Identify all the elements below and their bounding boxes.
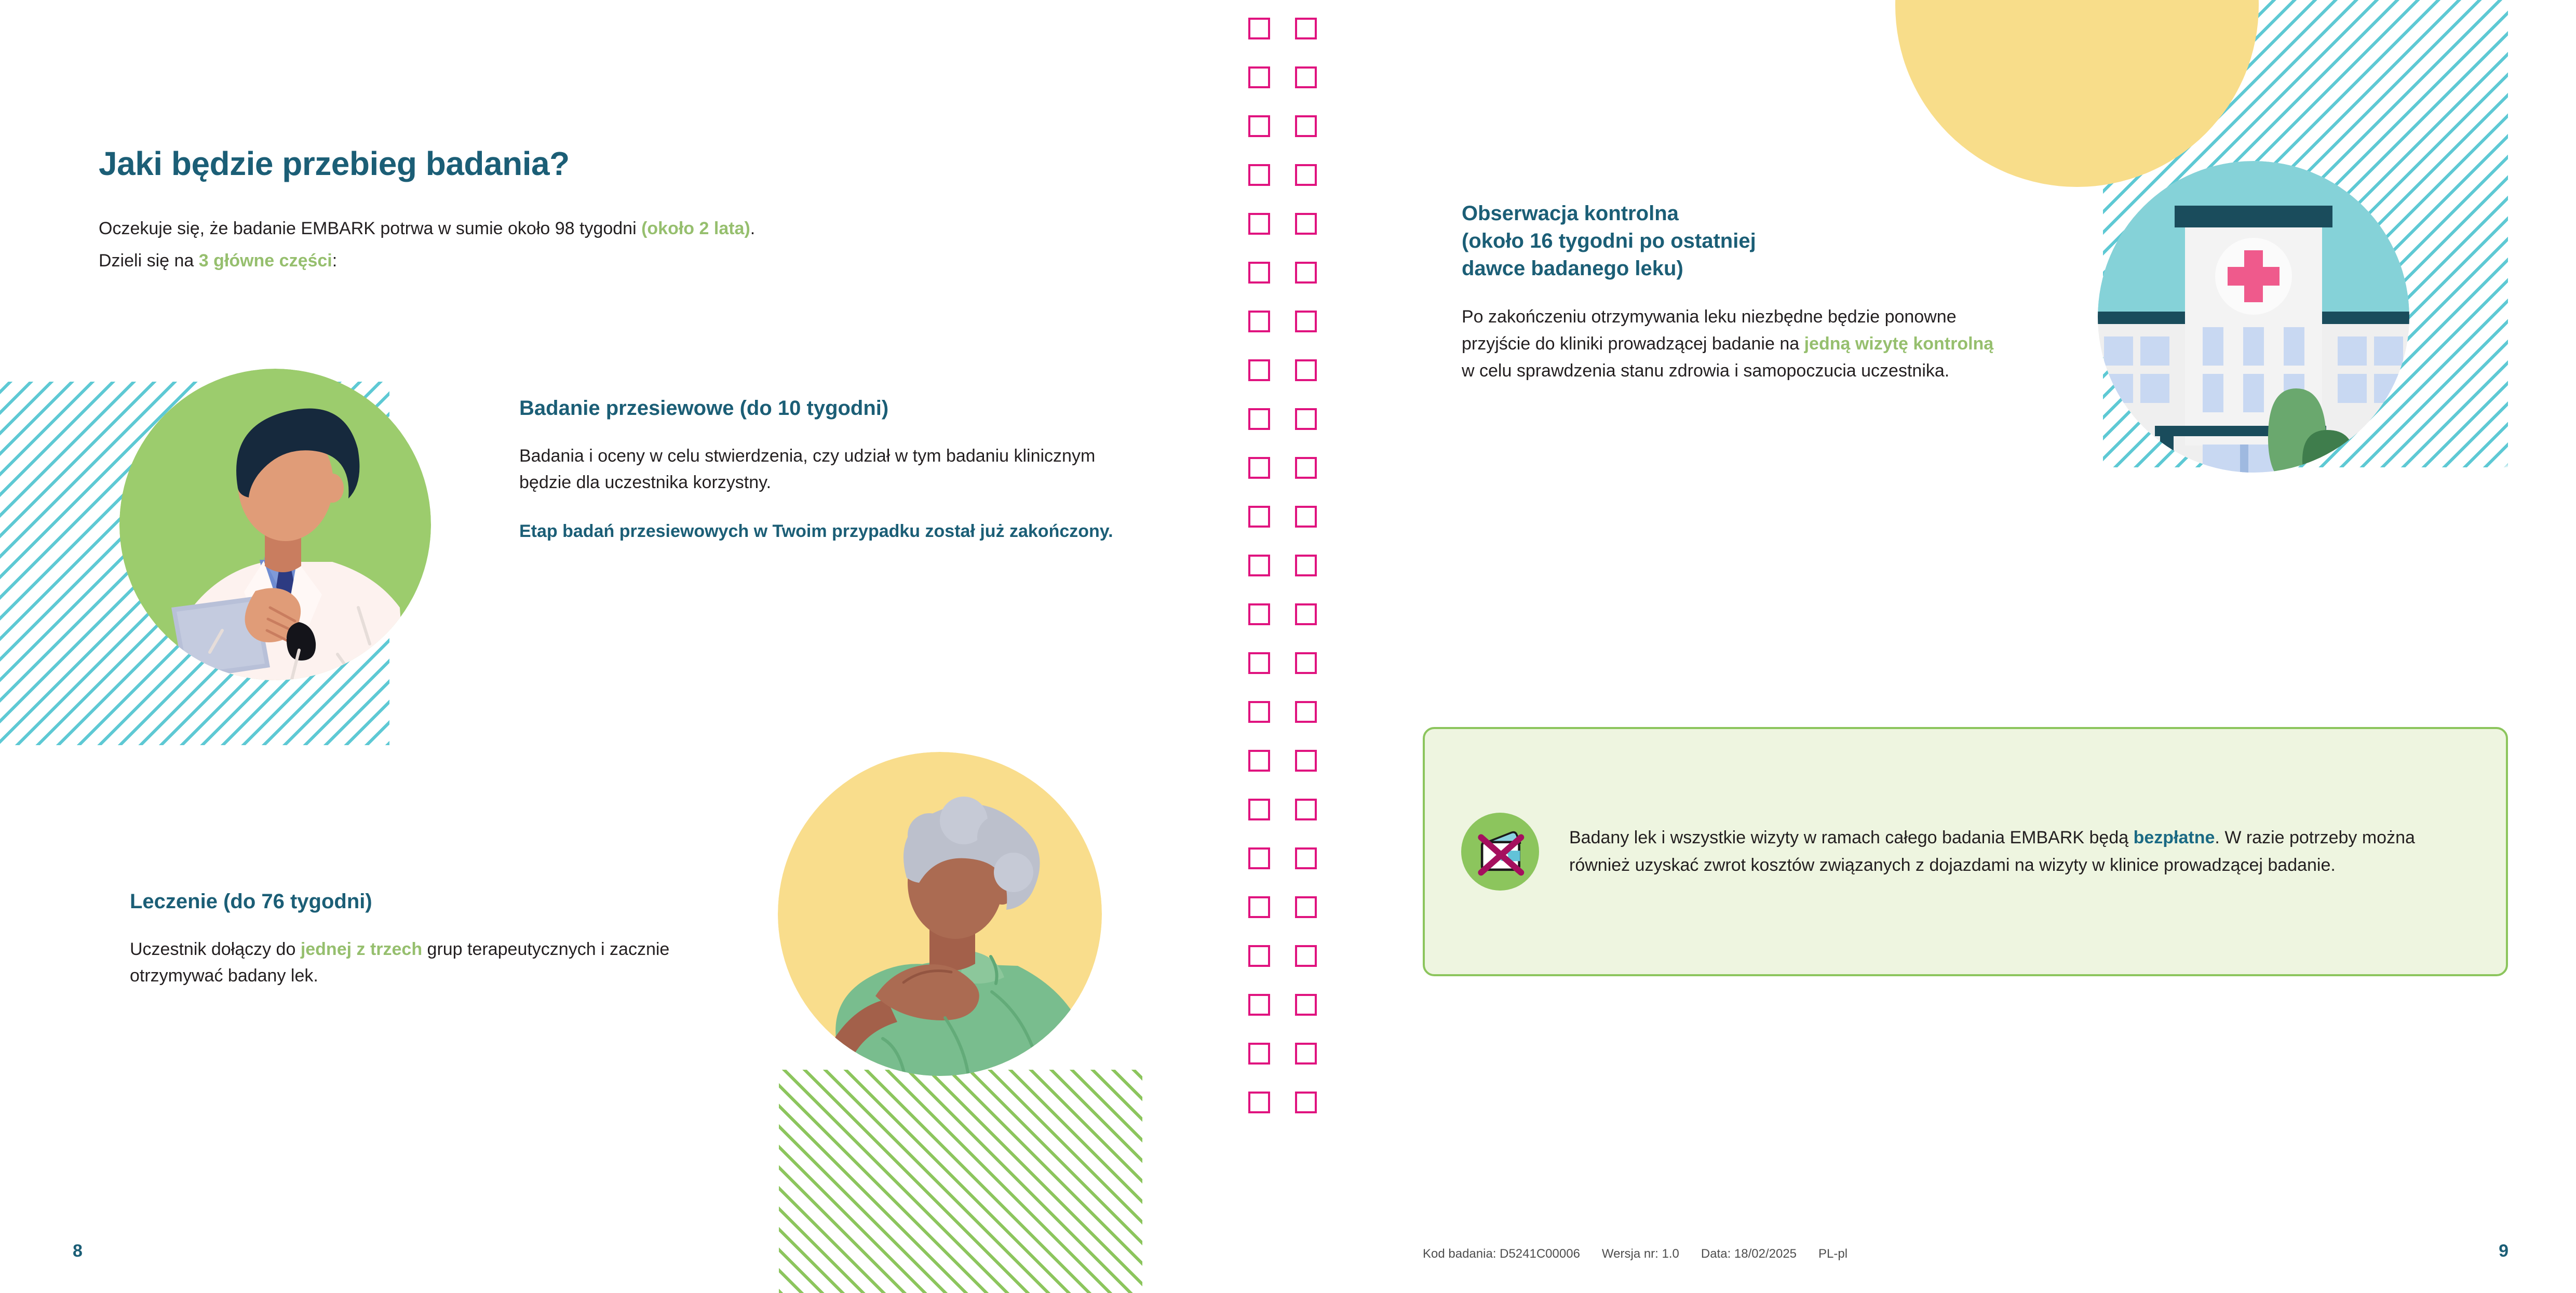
callout-free-highlight: bezpłatne: [2134, 828, 2215, 847]
intro-line-1: Oczekuje się, że badanie EMBARK potrwa w…: [99, 216, 1153, 243]
checkbox-row: [1248, 311, 1352, 332]
checkbox[interactable]: [1295, 603, 1317, 625]
checkbox-row: [1248, 408, 1352, 430]
page-number-left: 8: [73, 1241, 83, 1261]
treatment-heading: Leczenie (do 76 tygodni): [130, 888, 675, 915]
checkbox[interactable]: [1295, 1043, 1317, 1065]
checkbox[interactable]: [1248, 262, 1270, 284]
checkbox-row: [1248, 506, 1352, 528]
footer-metadata: Kod badania: D5241C00006 Wersja nr: 1.0 …: [1423, 1247, 1847, 1261]
checkbox[interactable]: [1248, 408, 1270, 430]
checkbox[interactable]: [1248, 555, 1270, 576]
checkbox-row: [1248, 896, 1352, 918]
free-of-charge-callout: Badany lek i wszystkie wizyty w ramach c…: [1423, 727, 2508, 976]
checkbox[interactable]: [1295, 115, 1317, 137]
no-cost-wallet-icon: [1461, 813, 1539, 891]
green-stripe-pattern-bottom: [779, 1070, 1142, 1293]
checkbox[interactable]: [1248, 603, 1270, 625]
checkbox[interactable]: [1295, 701, 1317, 723]
checkbox-row: [1248, 701, 1352, 723]
checkbox[interactable]: [1248, 359, 1270, 381]
checkbox-row: [1248, 945, 1352, 967]
checkbox-row: [1248, 164, 1352, 186]
intro-duration-highlight: (około 2 lata): [641, 219, 750, 238]
checkbox-row: [1248, 847, 1352, 869]
screening-section: Badanie przesiewowe (do 10 tygodni) Bada…: [519, 395, 1142, 563]
followup-section: Obserwacja kontrolna (około 16 tygodni p…: [1462, 200, 2007, 384]
intro-parts-highlight: 3 główne części: [199, 251, 332, 271]
checkbox[interactable]: [1248, 506, 1270, 528]
checkbox-row: [1248, 603, 1352, 625]
followup-heading-line-1: Obserwacja kontrolna: [1462, 200, 2007, 227]
checkbox-row: [1248, 652, 1352, 674]
treatment-body: Uczestnik dołączy do jednej z trzech gru…: [130, 936, 675, 990]
intro-line-2-text: Dzieli się na: [99, 251, 199, 271]
checkbox[interactable]: [1248, 457, 1270, 479]
followup-body: Po zakończeniu otrzymywania leku niezbęd…: [1462, 304, 2007, 384]
checkbox[interactable]: [1248, 799, 1270, 820]
callout-text: Badany lek i wszystkie wizyty w ramach c…: [1569, 824, 2470, 879]
followup-heading-line-3: dawce badanego leku): [1462, 255, 2007, 282]
checkbox[interactable]: [1248, 1092, 1270, 1113]
checkbox[interactable]: [1295, 408, 1317, 430]
checkbox[interactable]: [1295, 1092, 1317, 1113]
checkbox[interactable]: [1248, 18, 1270, 39]
checkbox-row: [1248, 359, 1352, 381]
checkbox[interactable]: [1248, 994, 1270, 1016]
elderly-person-illustration: [774, 748, 1106, 1080]
followup-heading-line-2: (około 16 tygodni po ostatniej: [1462, 227, 2007, 255]
checkbox[interactable]: [1295, 945, 1317, 967]
checkbox[interactable]: [1248, 701, 1270, 723]
callout-text-a: Badany lek i wszystkie wizyty w ramach c…: [1569, 828, 2134, 847]
checkbox[interactable]: [1248, 750, 1270, 772]
checkbox[interactable]: [1295, 311, 1317, 332]
checkbox[interactable]: [1248, 652, 1270, 674]
treatment-section: Leczenie (do 76 tygodni) Uczestnik dołąc…: [130, 888, 675, 990]
checkbox[interactable]: [1295, 66, 1317, 88]
followup-body-b: w celu sprawdzenia stanu zdrowia i samop…: [1462, 361, 1949, 381]
page-title: Jaki będzie przebieg badania?: [99, 144, 570, 183]
page-number-right: 9: [2499, 1241, 2508, 1261]
checkbox[interactable]: [1295, 994, 1317, 1016]
footer-version: Wersja nr: 1.0: [1602, 1247, 1679, 1261]
footer-date: Data: 18/02/2025: [1701, 1247, 1797, 1261]
checkbox-row: [1248, 750, 1352, 772]
treatment-groups-highlight: jednej z trzech: [301, 939, 422, 959]
checkbox-row: [1248, 555, 1352, 576]
intro-line-1-text: Oczekuje się, że badanie EMBARK potrwa w…: [99, 219, 641, 238]
checkbox[interactable]: [1248, 311, 1270, 332]
checkbox[interactable]: [1295, 457, 1317, 479]
checkbox-row: [1248, 115, 1352, 137]
checkbox[interactable]: [1295, 213, 1317, 235]
intro-line-2-tail: :: [332, 251, 337, 271]
checkbox[interactable]: [1248, 213, 1270, 235]
followup-heading: Obserwacja kontrolna (około 16 tygodni p…: [1462, 200, 2007, 282]
checkbox-decoration-column: [1248, 18, 1352, 1274]
checkbox[interactable]: [1295, 799, 1317, 820]
checkbox[interactable]: [1295, 18, 1317, 39]
checkbox-row: [1248, 1092, 1352, 1113]
checkbox[interactable]: [1295, 555, 1317, 576]
footer-locale: PL-pl: [1818, 1247, 1847, 1261]
intro-paragraph: Oczekuje się, że badanie EMBARK potrwa w…: [99, 216, 1153, 279]
checkbox[interactable]: [1295, 847, 1317, 869]
screening-body: Badania i oceny w celu stwierdzenia, czy…: [519, 443, 1142, 496]
checkbox[interactable]: [1248, 847, 1270, 869]
checkbox-row: [1248, 213, 1352, 235]
checkbox[interactable]: [1248, 1043, 1270, 1065]
checkbox[interactable]: [1295, 359, 1317, 381]
checkbox-row: [1248, 18, 1352, 39]
checkbox-row: [1248, 262, 1352, 284]
intro-line-1-tail: .: [750, 219, 755, 238]
checkbox[interactable]: [1295, 506, 1317, 528]
checkbox[interactable]: [1295, 750, 1317, 772]
checkbox[interactable]: [1295, 262, 1317, 284]
checkbox[interactable]: [1295, 164, 1317, 186]
intro-line-2: Dzieli się na 3 główne części:: [99, 248, 1153, 275]
checkbox-row: [1248, 66, 1352, 88]
followup-visit-highlight: jedną wizytę kontrolną: [1804, 334, 1994, 354]
checkbox[interactable]: [1248, 115, 1270, 137]
checkbox[interactable]: [1295, 652, 1317, 674]
checkbox[interactable]: [1295, 896, 1317, 918]
checkbox[interactable]: [1248, 66, 1270, 88]
checkbox[interactable]: [1248, 164, 1270, 186]
checkbox-row: [1248, 994, 1352, 1016]
checkbox-row: [1248, 457, 1352, 479]
checkbox-row: [1248, 799, 1352, 820]
checkbox-row: [1248, 1043, 1352, 1065]
checkbox[interactable]: [1248, 896, 1270, 918]
checkbox[interactable]: [1248, 945, 1270, 967]
doctor-with-tablet-illustration: [114, 363, 436, 685]
footer-study-code: Kod badania: D5241C00006: [1423, 1247, 1580, 1261]
screening-heading: Badanie przesiewowe (do 10 tygodni): [519, 395, 1142, 422]
treatment-body-a: Uczestnik dołączy do: [130, 939, 301, 959]
hospital-building-illustration: [2093, 156, 2415, 478]
screening-emphasis: Etap badań przesiewowych w Twoim przypad…: [519, 518, 1142, 545]
